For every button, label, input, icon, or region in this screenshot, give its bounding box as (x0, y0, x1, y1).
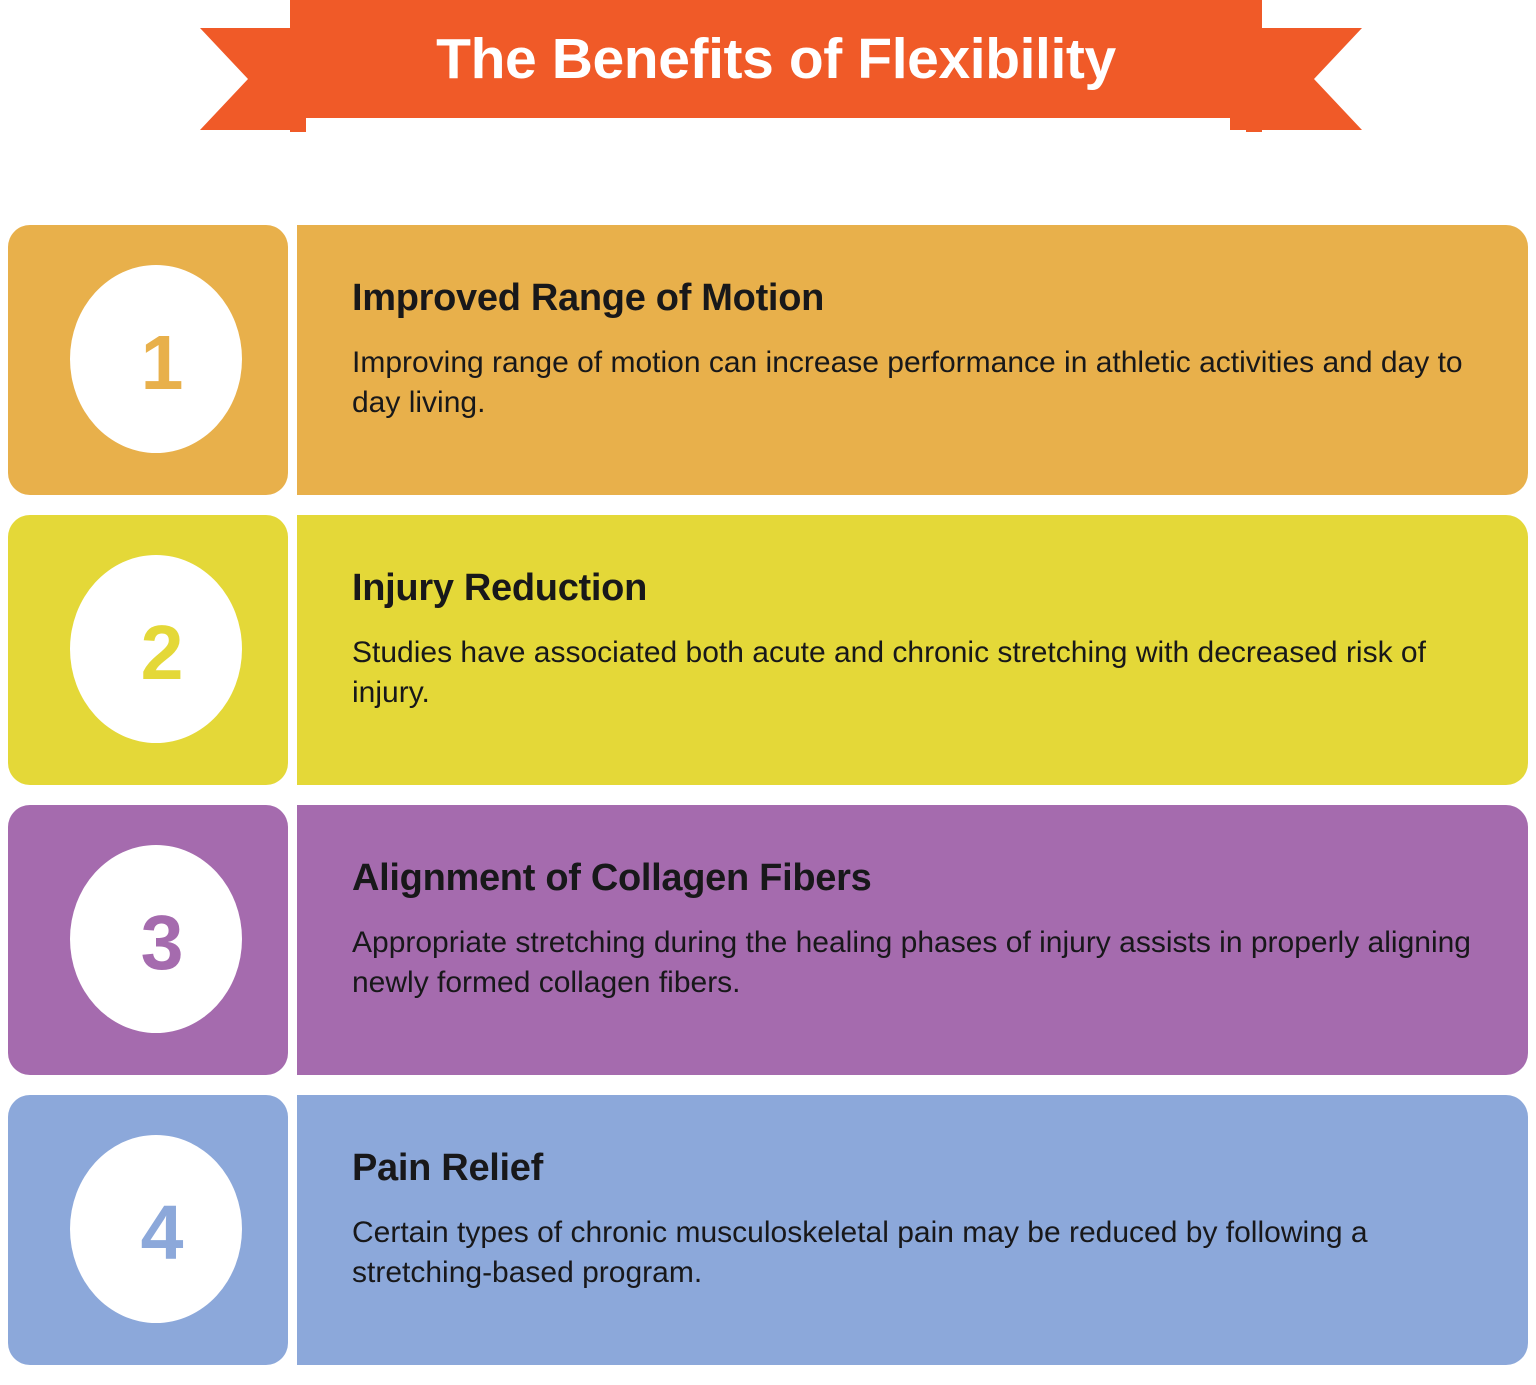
banner-header: The Benefits of Flexibility (0, 0, 1536, 150)
benefit-content-panel-3: Alignment of Collagen Fibers Appropriate… (297, 805, 1528, 1075)
benefit-body-1: Improving range of motion can increase p… (352, 343, 1492, 422)
benefit-number-circle-2: 2 (70, 555, 242, 743)
benefit-heading-3: Alignment of Collagen Fibers (352, 857, 871, 900)
list-item: 1 Improved Range of Motion Improving ran… (0, 225, 1536, 495)
ribbon-fold-left-icon (290, 118, 306, 132)
benefit-body-4: Certain types of chronic musculoskeletal… (352, 1213, 1492, 1292)
benefits-list: 1 Improved Range of Motion Improving ran… (0, 225, 1536, 1385)
list-item: 4 Pain Relief Certain types of chronic m… (0, 1095, 1536, 1365)
benefit-number-4: 4 (141, 1195, 184, 1272)
benefit-content-panel-4: Pain Relief Certain types of chronic mus… (297, 1095, 1528, 1365)
benefit-number-circle-4: 4 (70, 1135, 242, 1323)
benefit-body-2: Studies have associated both acute and c… (352, 633, 1492, 712)
benefit-number-1: 1 (141, 325, 184, 402)
benefit-badge-panel-3: 3 (8, 805, 288, 1075)
benefit-badge-panel-1: 1 (8, 225, 288, 495)
benefit-body-3: Appropriate stretching during the healin… (352, 923, 1492, 1002)
benefit-badge-panel-4: 4 (8, 1095, 288, 1365)
benefit-heading-2: Injury Reduction (352, 567, 647, 610)
benefit-number-2: 2 (141, 615, 184, 692)
list-item: 2 Injury Reduction Studies have associat… (0, 515, 1536, 785)
page-title: The Benefits of Flexibility (290, 0, 1262, 118)
benefit-heading-1: Improved Range of Motion (352, 277, 824, 320)
ribbon-fold-right-icon (1246, 118, 1262, 132)
benefit-content-panel-1: Improved Range of Motion Improving range… (297, 225, 1528, 495)
benefit-heading-4: Pain Relief (352, 1147, 543, 1190)
benefit-badge-panel-2: 2 (8, 515, 288, 785)
list-item: 3 Alignment of Collagen Fibers Appropria… (0, 805, 1536, 1075)
benefit-content-panel-2: Injury Reduction Studies have associated… (297, 515, 1528, 785)
benefit-number-circle-3: 3 (70, 845, 242, 1033)
benefit-number-3: 3 (141, 905, 184, 982)
benefit-number-circle-1: 1 (70, 265, 242, 453)
